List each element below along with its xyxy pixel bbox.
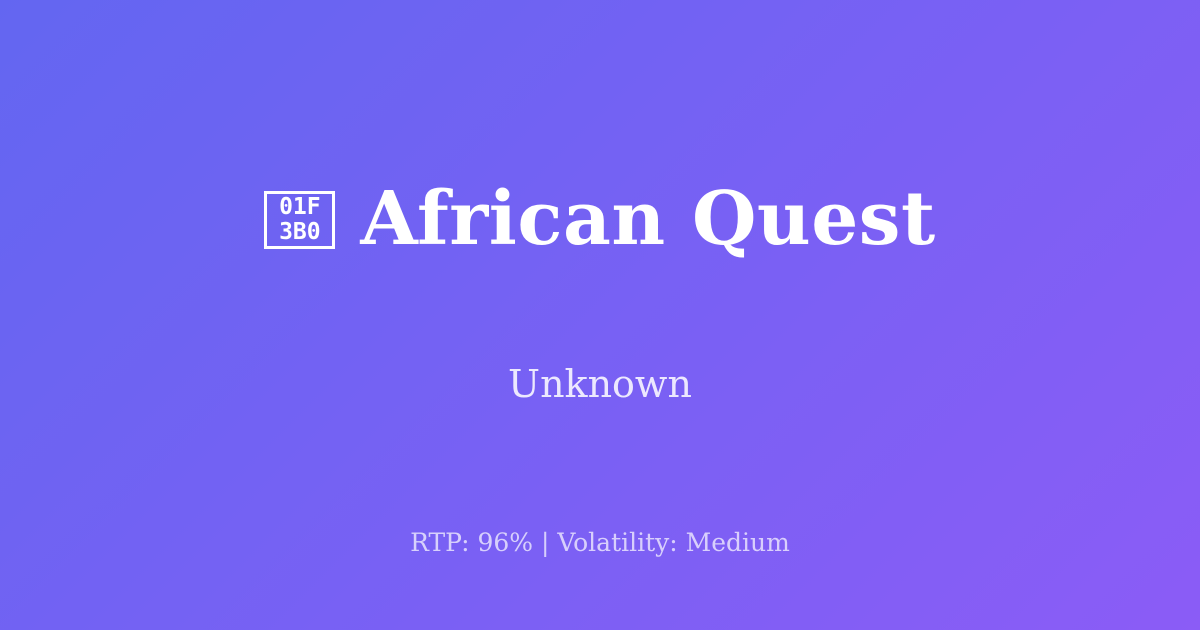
slot-machine-icon-codepoint-low: 3B0 bbox=[279, 220, 321, 245]
game-stats-line: RTP: 96% | Volatility: Medium bbox=[0, 528, 1200, 558]
title-row: 01F 3B0 African Quest bbox=[0, 131, 1200, 310]
slot-machine-icon-codepoint-high: 01F bbox=[279, 195, 321, 220]
game-provider-subtitle: Unknown bbox=[508, 362, 692, 408]
game-preview-card: 01F 3B0 African Quest Unknown RTP: 96% |… bbox=[0, 0, 1200, 630]
slot-machine-icon: 01F 3B0 bbox=[264, 191, 335, 249]
page-title: African Quest bbox=[360, 180, 935, 260]
hero-group: 01F 3B0 African Quest Unknown bbox=[0, 131, 1200, 408]
